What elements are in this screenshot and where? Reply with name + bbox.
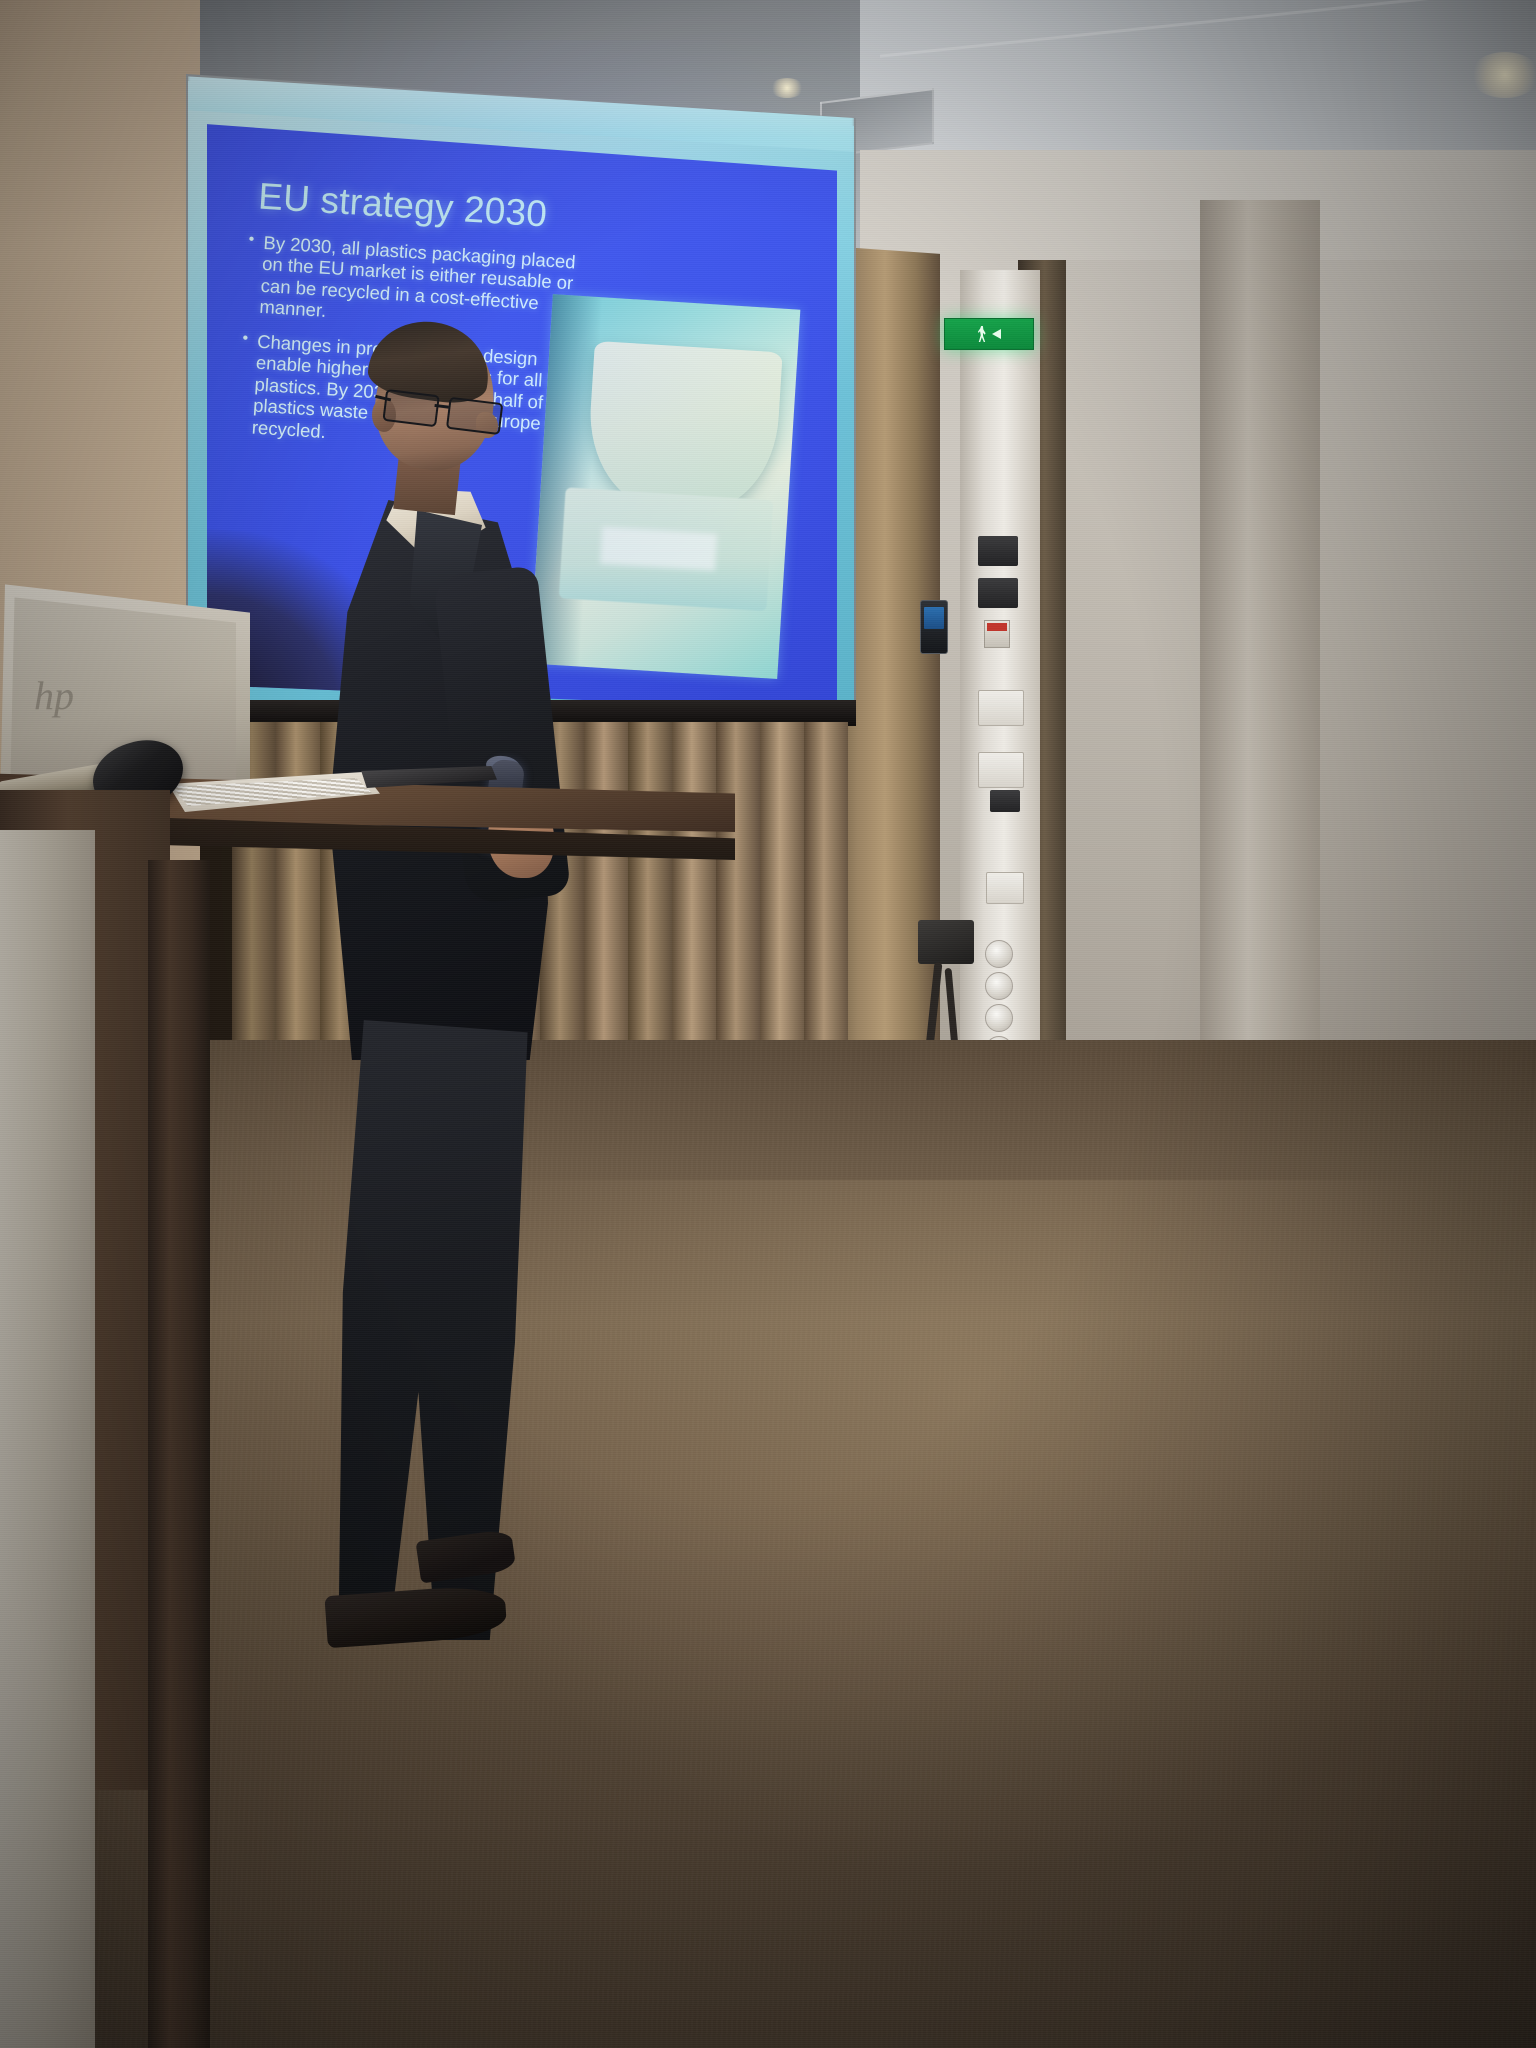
exit-sign [944, 318, 1034, 350]
room-control-panel[interactable] [920, 600, 948, 654]
wall-panel [978, 752, 1024, 788]
alarm-indicator [987, 623, 1007, 631]
control-panel-screen [924, 607, 944, 629]
wall-outlet[interactable] [990, 790, 1020, 812]
running-man-icon [978, 326, 987, 342]
wall-outlet[interactable] [978, 578, 1018, 608]
power-socket[interactable] [985, 1004, 1013, 1032]
photo-foam-part [584, 341, 782, 515]
slide-title: EU strategy 2030 [257, 175, 548, 235]
power-socket[interactable] [985, 940, 1013, 968]
wall-outlet[interactable] [978, 536, 1018, 566]
wall-panel [978, 690, 1024, 726]
glasses-lens [382, 389, 439, 427]
power-adapter [918, 920, 974, 964]
lectern-body [0, 830, 95, 2048]
power-socket[interactable] [985, 972, 1013, 1000]
lectern-leg [148, 860, 210, 2048]
ceiling-light-icon [1470, 52, 1536, 98]
arrow-left-icon [992, 329, 1001, 339]
wall-panel [986, 872, 1024, 904]
glasses-lens [446, 397, 503, 435]
curtain-far-right [1200, 200, 1320, 1050]
photo-highlight [600, 527, 716, 571]
photo-scene: Reference Windows 10 Desktop Edition EU … [0, 0, 1536, 2048]
hp-logo: hp [34, 672, 74, 719]
fire-alarm-device [984, 620, 1010, 648]
